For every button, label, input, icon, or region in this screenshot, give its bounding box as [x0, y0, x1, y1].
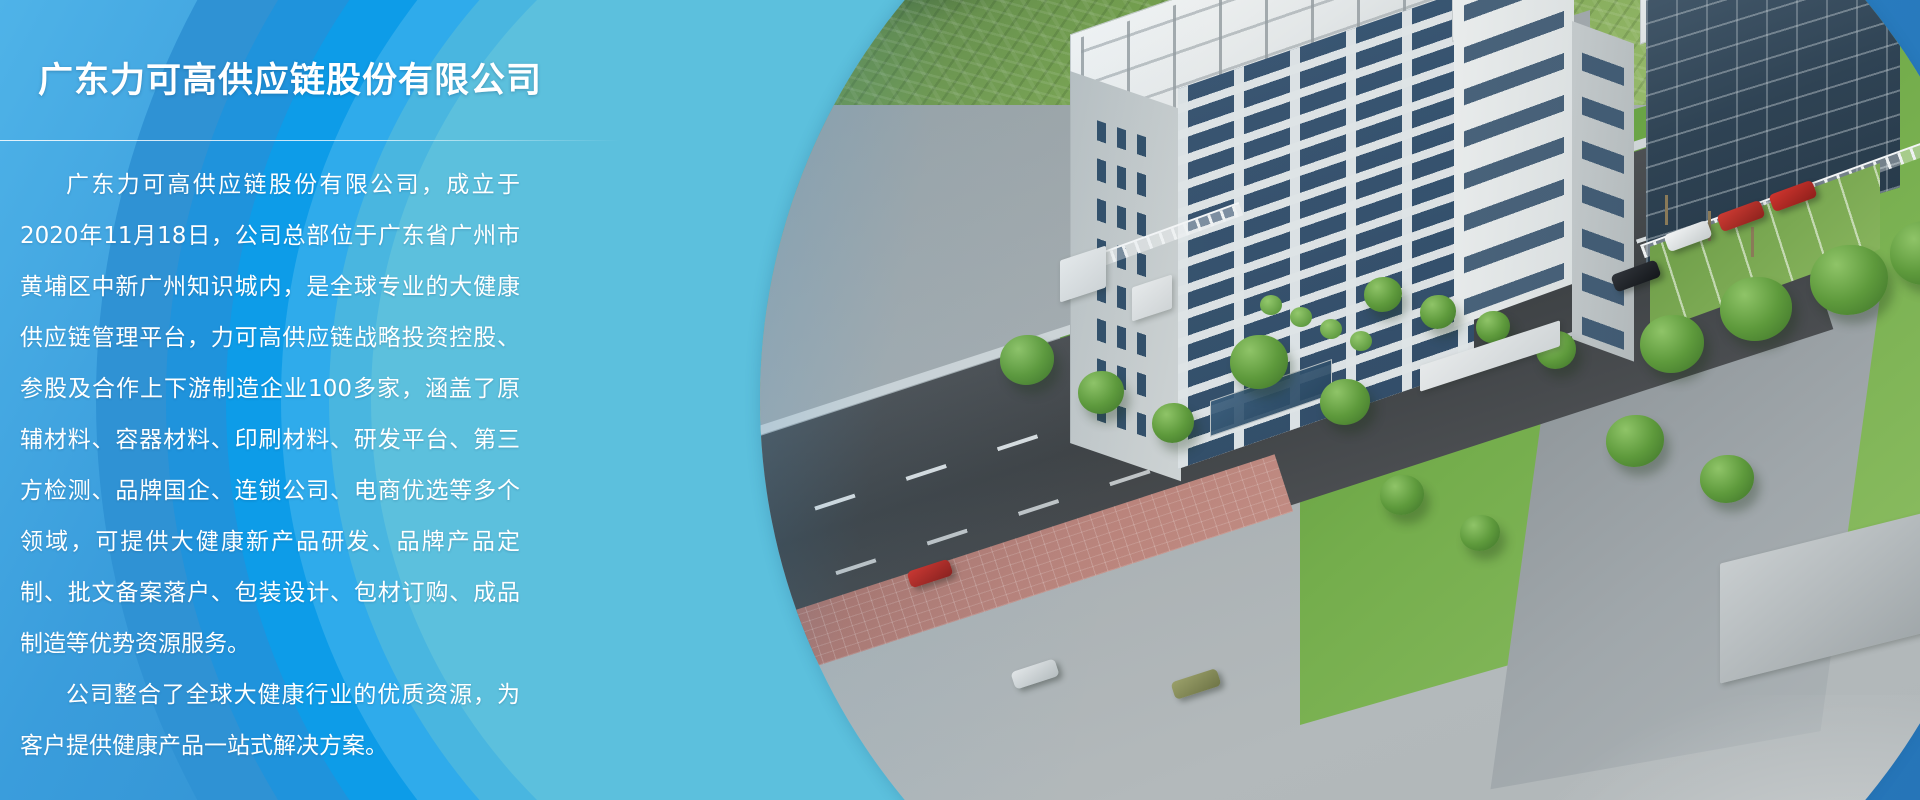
paragraph-summary: 公司整合了全球大健康行业的优质资源，为客户提供健康产品一站式解决方案。: [20, 670, 520, 772]
page-title: 广东力可高供应链股份有限公司: [38, 52, 542, 103]
paragraph-intro: 广东力可高供应链股份有限公司，成立于2020年11月18日，公司总部位于广东省广…: [20, 160, 520, 670]
company-description: 广东力可高供应链股份有限公司，成立于2020年11月18日，公司总部位于广东省广…: [20, 160, 520, 772]
campus-photo: [760, 0, 1920, 800]
campus-photo-inner: [760, 0, 1920, 800]
photo-blue-tint: [760, 0, 1920, 800]
text-panel: 广东力可高供应链股份有限公司 广东力可高供应链股份有限公司，成立于2020年11…: [0, 0, 640, 800]
company-profile-banner: 广东力可高供应链股份有限公司 广东力可高供应链股份有限公司，成立于2020年11…: [0, 0, 1920, 800]
title-divider: [0, 140, 620, 141]
